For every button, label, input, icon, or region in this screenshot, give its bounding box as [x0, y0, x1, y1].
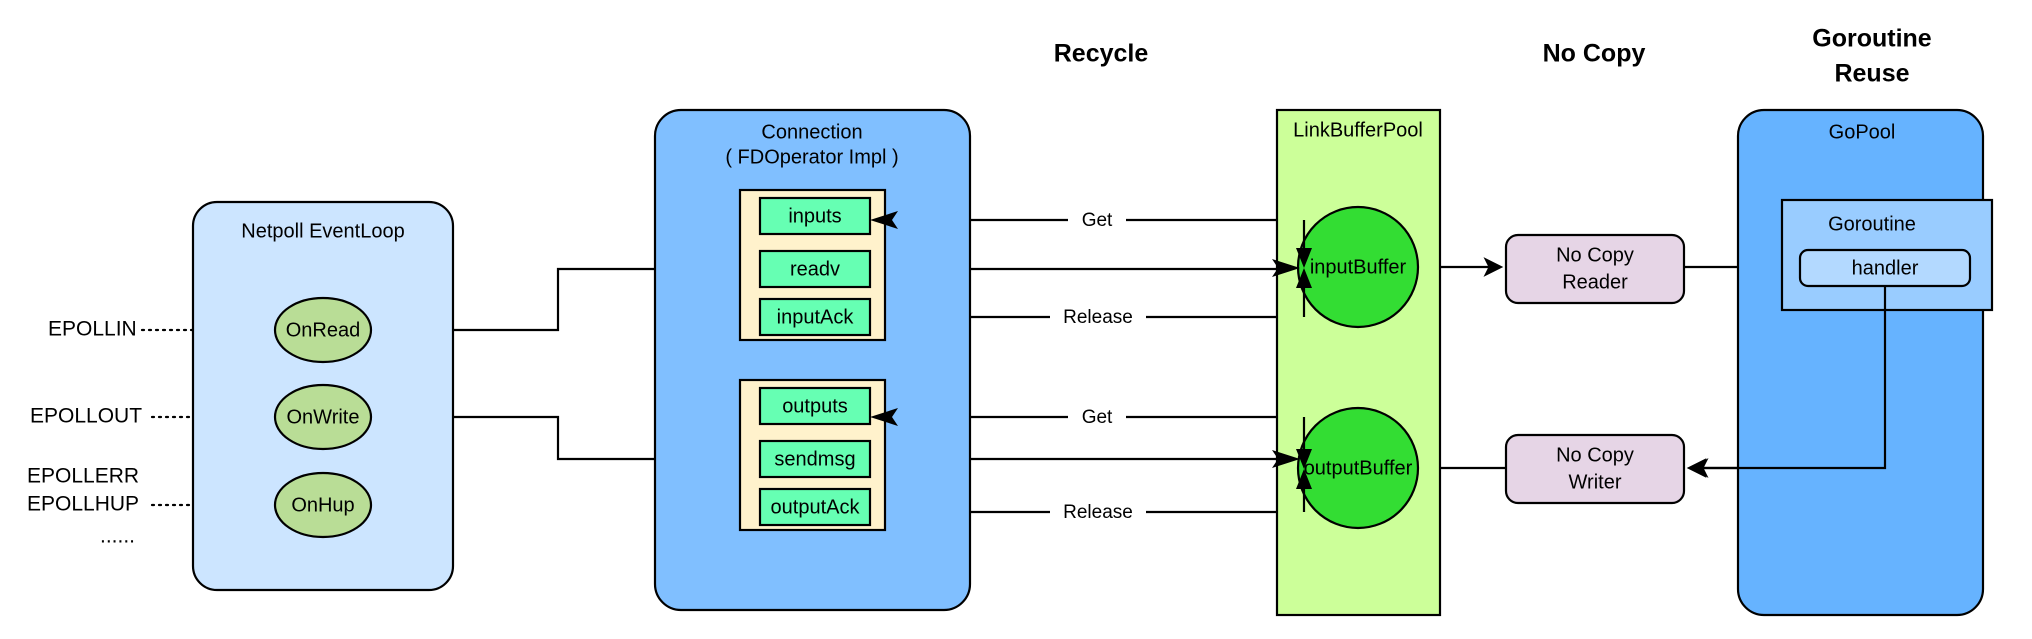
netpoll-eventloop-title: Netpoll EventLoop — [241, 220, 404, 242]
node-onread-label: OnRead — [286, 319, 361, 341]
linkbufferpool-title: LinkBufferPool — [1293, 119, 1423, 141]
edge-labels: Get Release Get Release — [1050, 208, 1146, 524]
edge-label-release-output: Release — [1063, 502, 1133, 523]
item-inputack-label: inputAck — [777, 306, 855, 328]
buffer-outputbuffer-label: outputBuffer — [1304, 457, 1413, 479]
item-outputs-label: outputs — [782, 395, 848, 417]
goroutine-title: Goroutine — [1828, 213, 1916, 235]
connection-title-line2: ( FDOperator Impl ) — [725, 146, 898, 168]
epoll-label-epollin: EPOLLIN — [48, 318, 137, 341]
epoll-label-epollout: EPOLLOUT — [30, 405, 142, 428]
item-outputack-label: outputAck — [771, 496, 861, 518]
epoll-label-epollerr: EPOLLERR — [27, 465, 139, 488]
item-sendmsg-label: sendmsg — [774, 448, 855, 470]
section-header-recycle: Recycle — [1054, 40, 1149, 68]
node-onwrite-label: OnWrite — [287, 406, 360, 428]
no-copy-writer-line2: Writer — [1569, 471, 1622, 493]
netpoll-eventloop-container[interactable]: Netpoll EventLoop OnRead OnWrite OnHup — [193, 202, 453, 590]
handler-label: handler — [1852, 257, 1919, 279]
buffer-inputbuffer-label: inputBuffer — [1310, 256, 1407, 278]
section-header-goroutine-reuse-line1: Goroutine — [1812, 25, 1932, 53]
item-readv-label: readv — [790, 258, 840, 280]
linkbufferpool-box[interactable] — [1277, 110, 1440, 615]
edge-label-release-input: Release — [1063, 307, 1133, 328]
item-inputs-label: inputs — [788, 205, 841, 227]
nocopy-reader-container[interactable]: No Copy Reader — [1506, 235, 1684, 303]
connection-box[interactable] — [655, 110, 970, 610]
no-copy-reader-line2: Reader — [1562, 271, 1628, 293]
section-header-goroutine-reuse-line2: Reuse — [1834, 60, 1909, 88]
nocopy-writer-container[interactable]: No Copy Writer — [1506, 435, 1684, 503]
gopool-box[interactable] — [1738, 110, 1983, 615]
section-header-no-copy: No Copy — [1543, 40, 1646, 68]
gopool-title: GoPool — [1829, 121, 1896, 143]
edge-label-get-output: Get — [1082, 407, 1113, 428]
connection-title-line1: Connection — [761, 121, 862, 143]
connection-container[interactable]: Connection ( FDOperator Impl ) inputs re… — [655, 110, 970, 610]
epoll-event-labels: EPOLLIN EPOLLOUT EPOLLERR EPOLLHUP .....… — [27, 318, 142, 548]
gopool-container[interactable]: GoPool Goroutine handler — [1738, 110, 1992, 615]
section-headers: Recycle No Copy Goroutine Reuse — [1054, 25, 1932, 88]
node-onhup-label: OnHup — [291, 494, 354, 516]
no-copy-reader-line1: No Copy — [1556, 244, 1634, 266]
linkbufferpool-container[interactable]: LinkBufferPool inputBuffer outputBuffer — [1277, 110, 1440, 615]
diagram-canvas: Recycle No Copy Goroutine Reuse — [0, 0, 2032, 639]
epoll-label-epollhup: EPOLLHUP — [27, 493, 139, 516]
edge-label-get-input: Get — [1082, 210, 1113, 231]
no-copy-writer-line1: No Copy — [1556, 444, 1634, 466]
epoll-label-ellipsis: ...... — [100, 525, 135, 548]
